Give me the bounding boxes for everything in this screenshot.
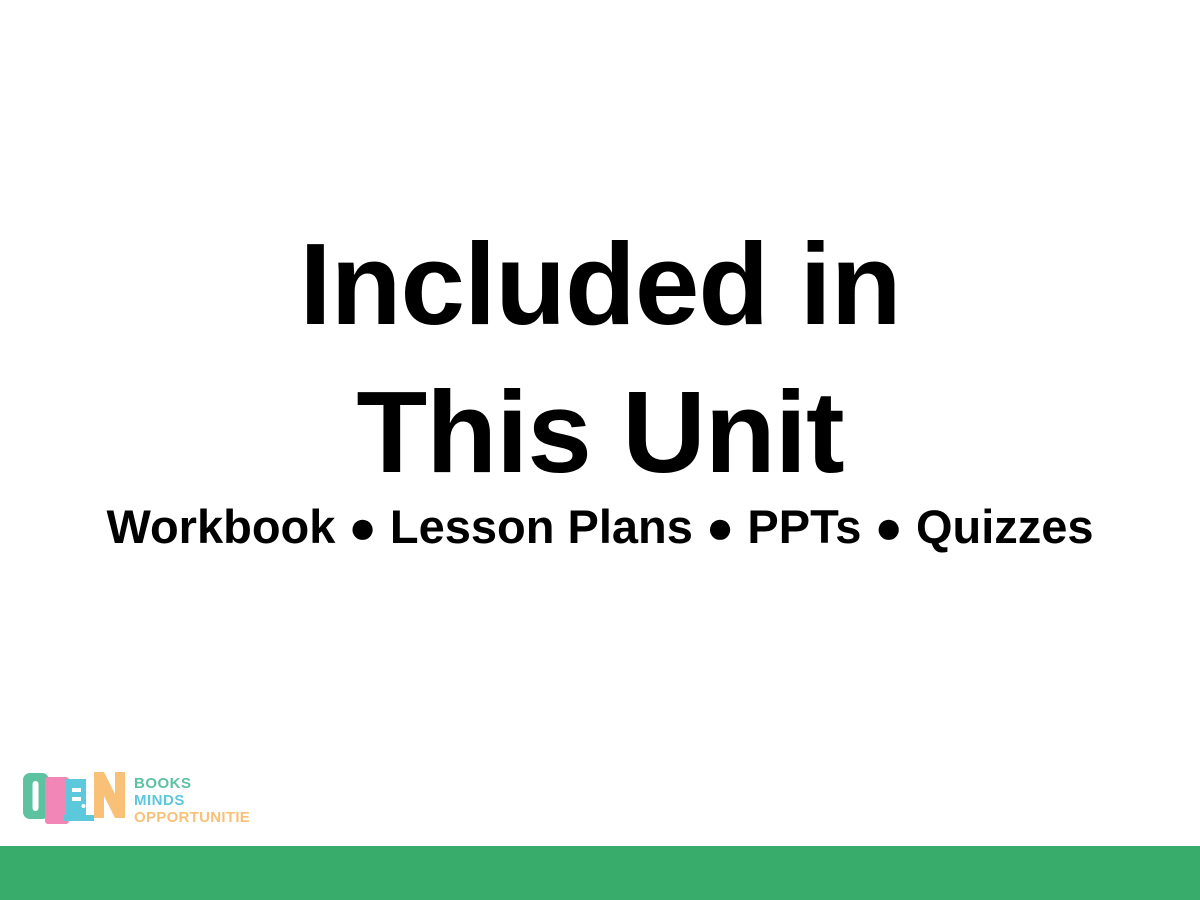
logo-tagline-books: BOOKS [134,775,192,792]
title-line-2: This Unit [0,358,1200,506]
slide-canvas: Included in This Unit Workbook ● Lesson … [0,0,1200,900]
title-line-1: Included in [0,210,1200,358]
logo-tagline-opportunities: OPPORTUNITIES [134,809,250,826]
logo-letter-n-icon [94,772,125,818]
page-title: Included in This Unit [0,210,1200,507]
logo-tagline-minds: MINDS [134,792,185,809]
subtitle-contents-list: Workbook ● Lesson Plans ● PPTs ● Quizzes [0,500,1200,554]
footer-accent-bar [0,846,1200,900]
logo-letter-e-icon [64,779,94,821]
brand-logo: BOOKS MINDS OPPORTUNITIES [20,768,250,828]
